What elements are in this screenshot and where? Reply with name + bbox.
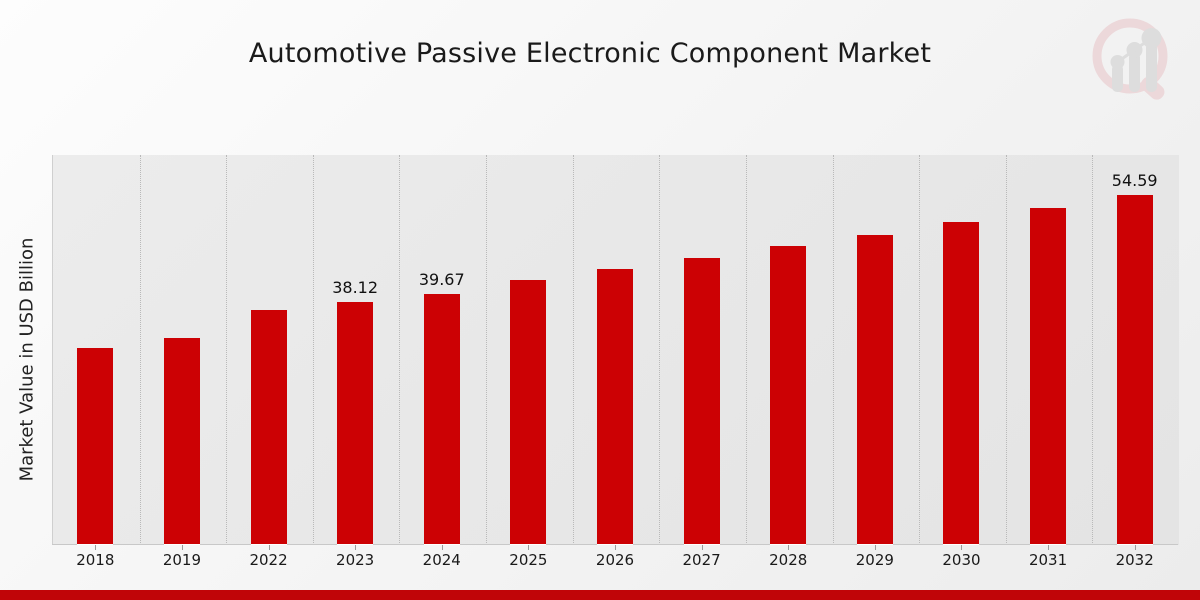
x-tick-label-2029: 2029	[835, 551, 915, 569]
x-tick-mark	[788, 545, 789, 550]
x-tick-label-2025: 2025	[488, 551, 568, 569]
market-research-magnifier-logo	[1086, 14, 1182, 110]
gridline	[1006, 155, 1008, 545]
x-tick-label-2023: 2023	[315, 551, 395, 569]
gridline	[226, 155, 228, 545]
y-axis-title: Market Value in USD Billion	[17, 160, 38, 560]
gridline	[659, 155, 661, 545]
gridline	[313, 155, 315, 545]
gridline	[1092, 155, 1094, 545]
gridline	[486, 155, 488, 545]
x-tick-mark	[355, 545, 356, 550]
footer-accent-bar	[0, 590, 1200, 600]
gridline	[140, 155, 142, 545]
x-tick-label-2019: 2019	[142, 551, 222, 569]
x-tick-label-2028: 2028	[748, 551, 828, 569]
x-tick-label-2022: 2022	[229, 551, 309, 569]
gridline	[746, 155, 748, 545]
x-tick-mark	[961, 545, 962, 550]
chart-figure: Automotive Passive Electronic Component …	[0, 0, 1200, 600]
x-tick-label-2031: 2031	[1008, 551, 1088, 569]
plot-area	[52, 155, 1179, 545]
x-tick-mark	[182, 545, 183, 550]
gridline	[573, 155, 575, 545]
x-tick-label-2027: 2027	[662, 551, 742, 569]
gridlines	[53, 155, 1179, 545]
x-tick-label-2024: 2024	[402, 551, 482, 569]
x-tick-mark	[1135, 545, 1136, 550]
x-tick-mark	[95, 545, 96, 550]
x-tick-mark	[528, 545, 529, 550]
gridline	[919, 155, 921, 545]
x-tick-mark	[702, 545, 703, 550]
x-tick-label-2018: 2018	[55, 551, 135, 569]
gridline	[833, 155, 835, 545]
x-tick-mark	[1048, 545, 1049, 550]
gridline	[399, 155, 401, 545]
x-tick-label-2032: 2032	[1095, 551, 1175, 569]
x-tick-mark	[615, 545, 616, 550]
x-tick-label-2026: 2026	[575, 551, 655, 569]
x-tick-label-2030: 2030	[921, 551, 1001, 569]
x-tick-mark	[269, 545, 270, 550]
page-title: Automotive Passive Electronic Component …	[0, 38, 1180, 69]
x-tick-mark	[442, 545, 443, 550]
x-tick-mark	[875, 545, 876, 550]
